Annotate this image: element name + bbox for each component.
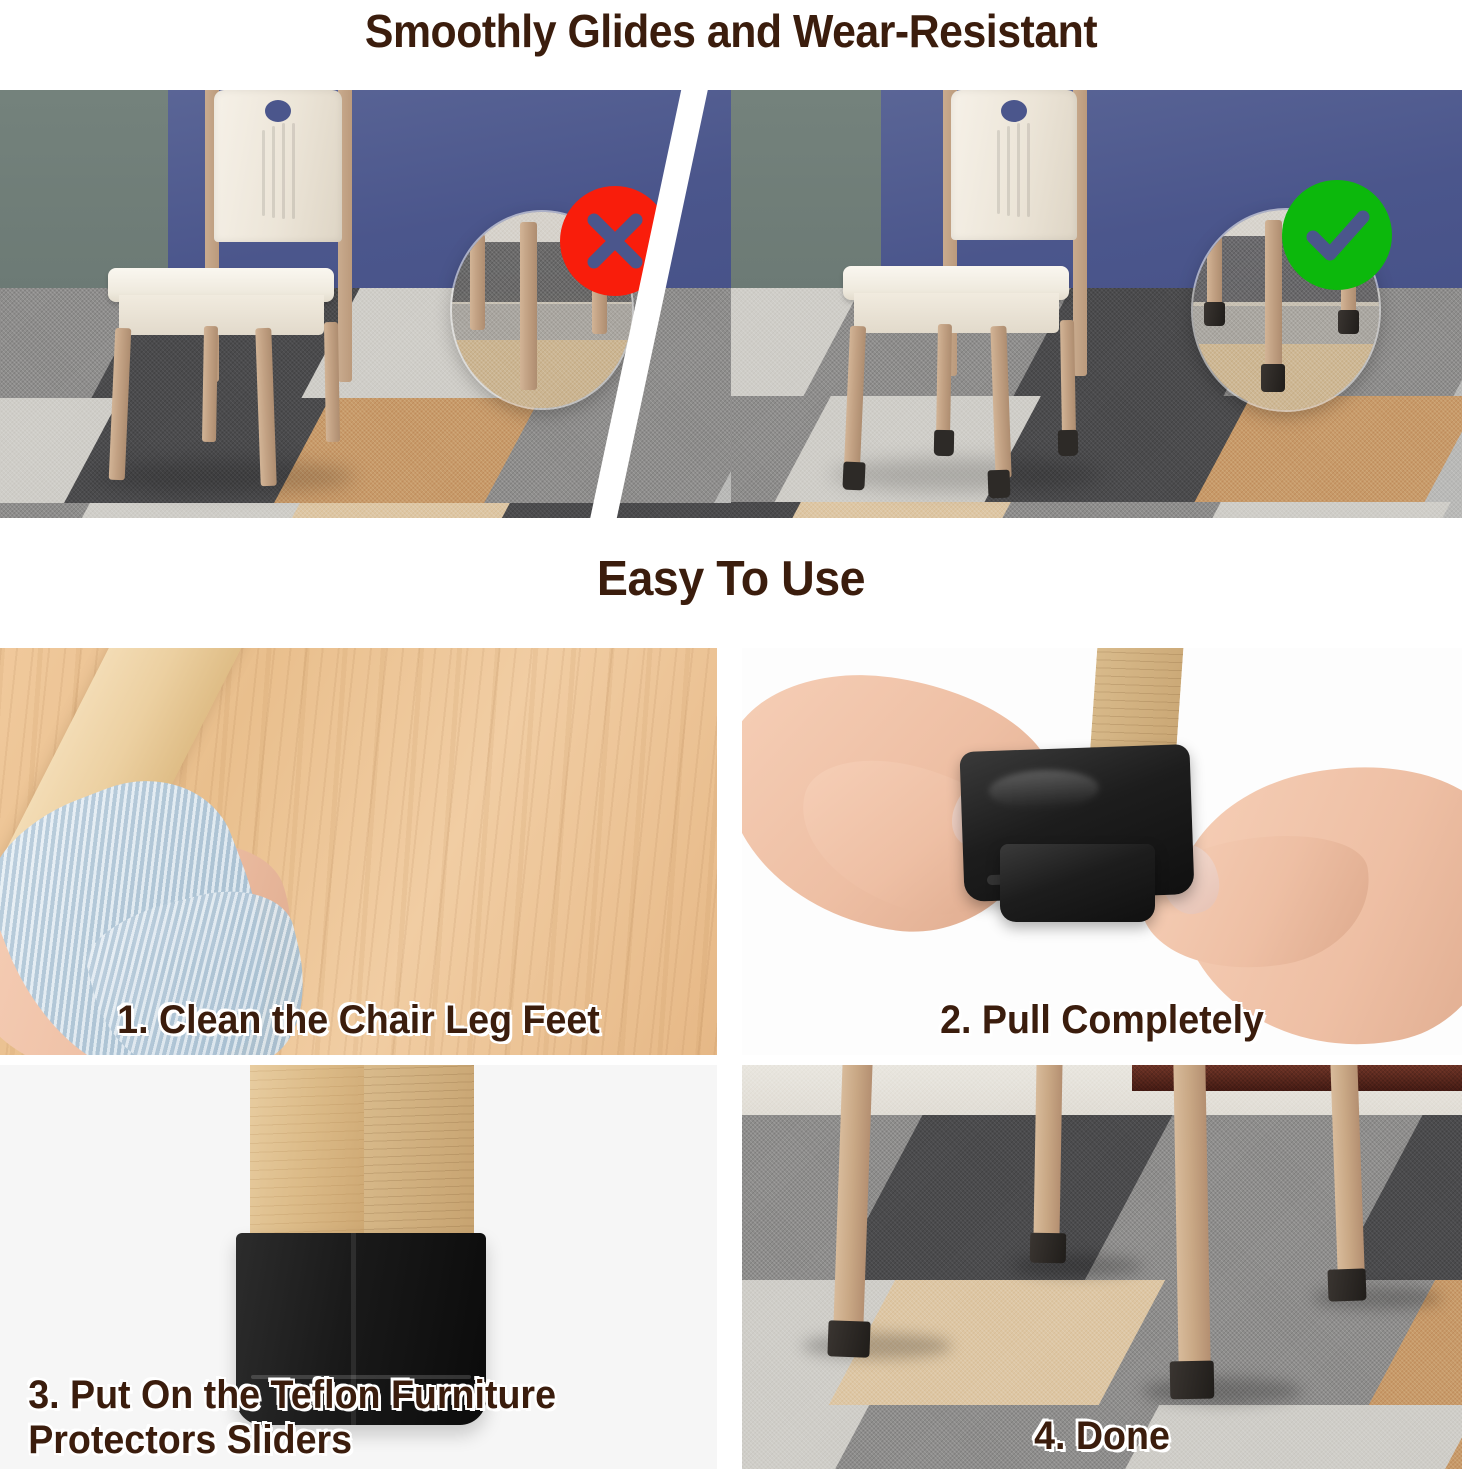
page-title: Smoothly Glides and Wear-Resistant [51, 4, 1411, 58]
carpet [742, 1065, 1462, 1469]
chair-leg-wood-right-face [364, 1065, 474, 1239]
hero-panel-with-protectors [731, 90, 1462, 518]
chair-leg-2 [1033, 1065, 1062, 1239]
check-mark-icon [1282, 180, 1392, 290]
step-caption-1: 1. Clean the Chair Leg Feet [22, 998, 696, 1043]
step-panel-3: 3. Put On the Teflon Furniture Protector… [0, 1065, 717, 1469]
steps-grid: 1. Clean the Chair Leg Feet 2. Pull Comp… [0, 648, 1462, 1469]
step-panel-2: 2. Pull Completely [742, 648, 1462, 1055]
hero-comparison [0, 90, 1462, 518]
section-title-easy-to-use: Easy To Use [37, 551, 1426, 607]
step-caption-3: 3. Put On the Teflon Furniture Protector… [0, 1373, 674, 1463]
step-caption-2: 2. Pull Completely [764, 998, 1441, 1043]
furniture-protector-cap-base [1000, 844, 1155, 922]
step-caption-4: 4. Done [764, 1414, 1441, 1459]
chair-leg-3 [1173, 1065, 1210, 1367]
protector-cap-1 [827, 1320, 870, 1357]
protector-cap-3 [1170, 1361, 1215, 1400]
product-infographic: Smoothly Glides and Wear-Resistant [0, 0, 1462, 1469]
step-panel-1: 1. Clean the Chair Leg Feet [0, 648, 717, 1055]
chair-leg-wood-left-face [250, 1065, 365, 1253]
status-badge-correct [1282, 180, 1392, 290]
step-panel-4: 4. Done [742, 1065, 1462, 1469]
step-caption-3-line-2: Protectors Sliders [28, 1418, 674, 1463]
protector-cap-4 [1327, 1268, 1366, 1301]
step-caption-3-line-1: 3. Put On the Teflon Furniture [28, 1373, 674, 1418]
protector-cap-2 [1030, 1233, 1067, 1264]
